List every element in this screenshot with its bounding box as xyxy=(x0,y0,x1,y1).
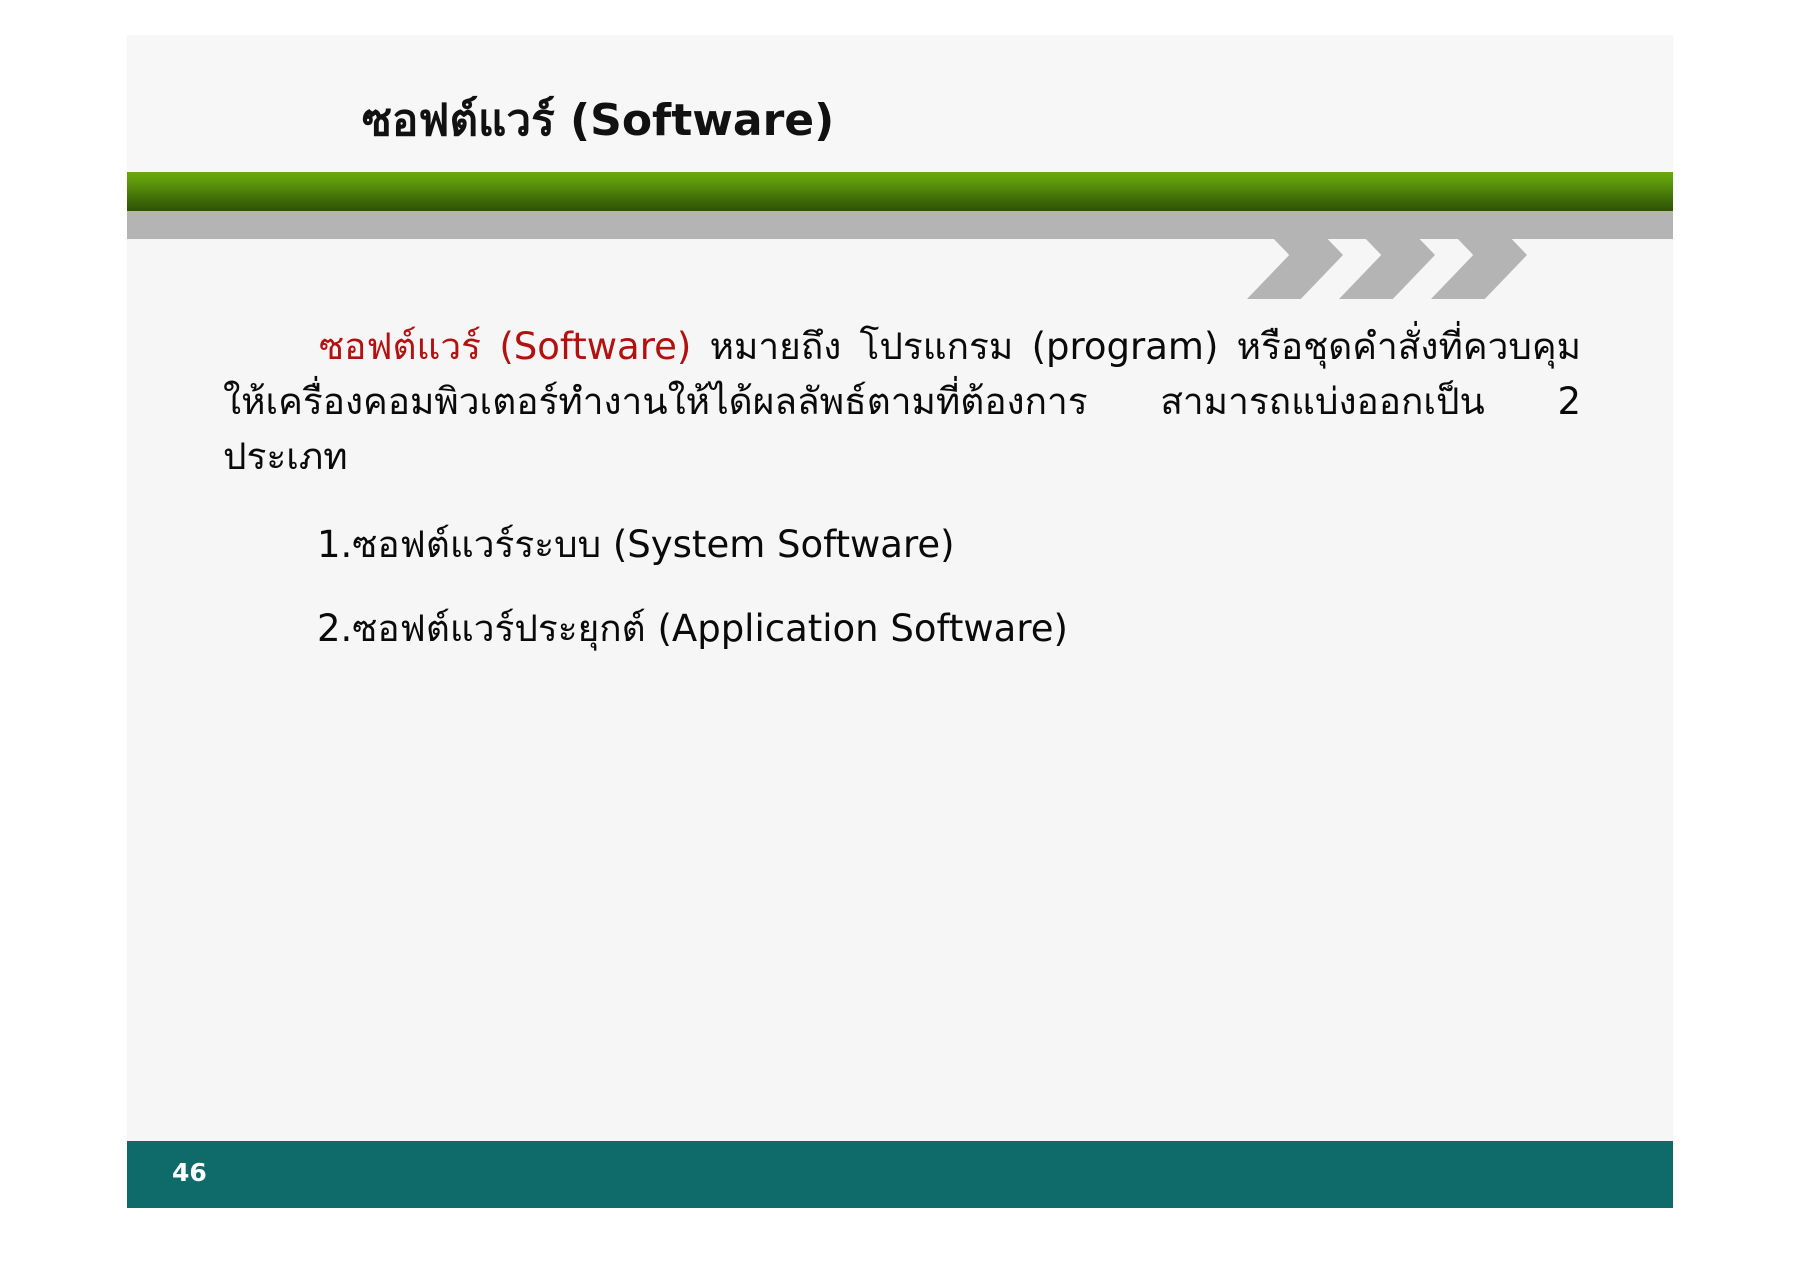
list-item: 1.ซอฟต์แวร์ระบบ (System Software) xyxy=(317,523,1517,567)
definition-paragraph: ซอฟต์แวร์ (Software) หมายถึง โปรแกรม (pr… xyxy=(223,319,1581,484)
page-number: 46 xyxy=(172,1158,207,1187)
list-item: 2.ซอฟต์แวร์ประยุกต์ (Application Softwar… xyxy=(317,607,1517,651)
definition-term-highlight: ซอฟต์แวร์ (Software) xyxy=(319,325,691,368)
page-title: ซอฟต์แวร์ (Software) xyxy=(362,85,834,155)
footer-bar: 46 xyxy=(127,1141,1673,1208)
slide-canvas: ซอฟต์แวร์ (Software) ซอฟต์แวร์ (Software… xyxy=(127,35,1673,1208)
green-accent-bar xyxy=(127,172,1673,211)
title-band: ซอฟต์แวร์ (Software) xyxy=(127,35,1673,172)
slide-body: ซอฟต์แวร์ (Software) หมายถึง โปรแกรม (pr… xyxy=(127,299,1673,1148)
